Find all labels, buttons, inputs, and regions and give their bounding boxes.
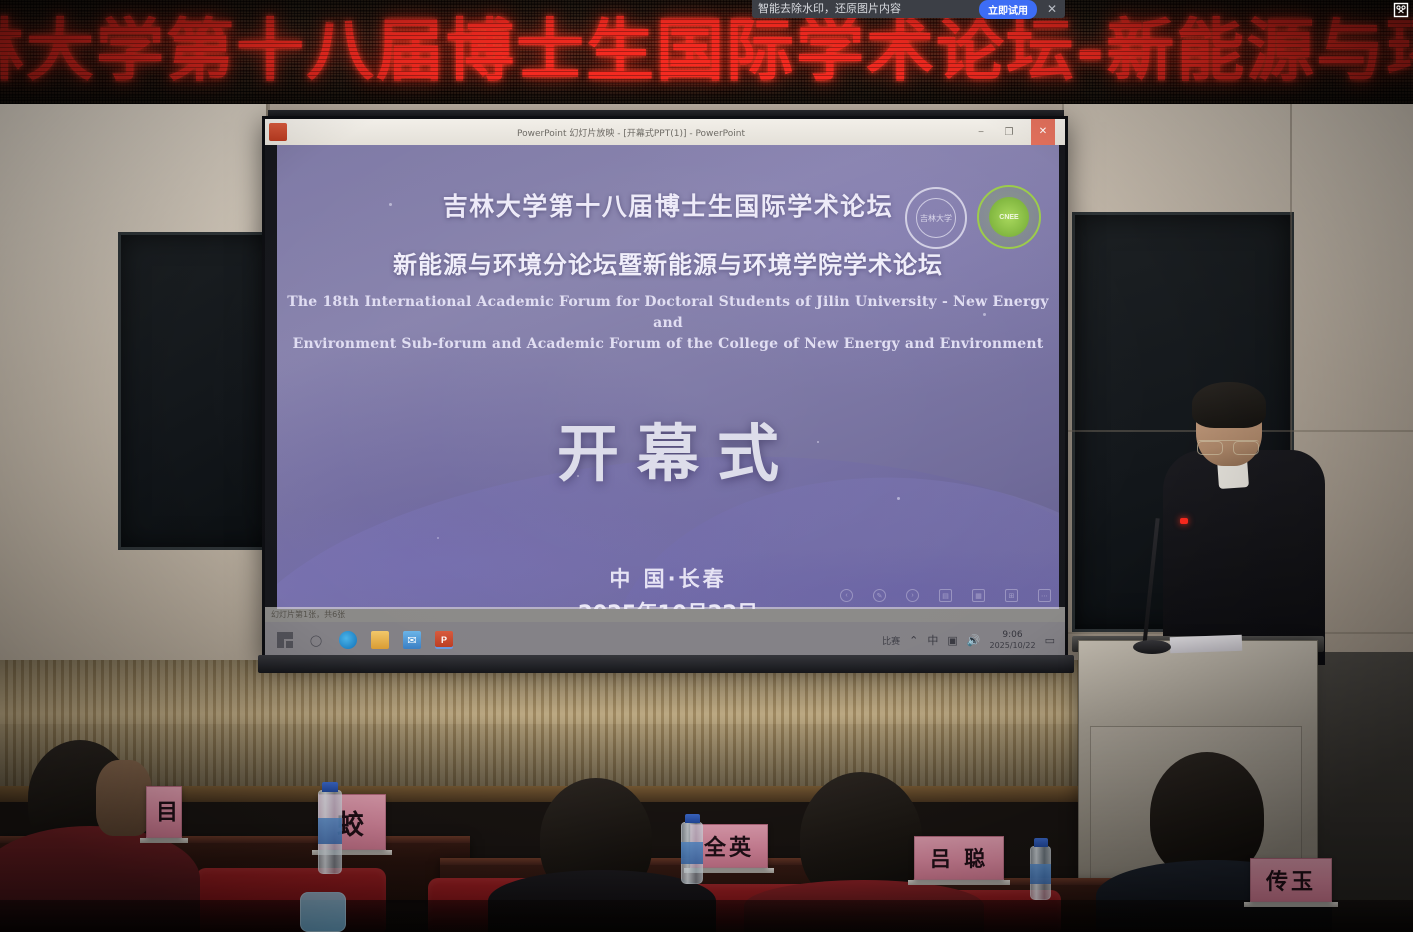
presenter-hair bbox=[1192, 382, 1266, 428]
bottle-cap bbox=[322, 782, 338, 792]
ad-message: 智能去除水印，还原图片内容 bbox=[758, 0, 971, 18]
foreground-shadow bbox=[0, 900, 1413, 932]
powerpoint-icon bbox=[269, 123, 287, 141]
taskbar-pinned-items[interactable]: ◯ ✉ P bbox=[265, 631, 453, 649]
bottle-cap bbox=[1034, 838, 1048, 847]
action-center-icon[interactable]: ▭ bbox=[1045, 634, 1055, 647]
volume-icon[interactable]: 🔊 bbox=[967, 634, 981, 647]
screen-bottom-mount bbox=[258, 655, 1074, 673]
zoom-control[interactable]: ⊞ bbox=[1005, 589, 1018, 602]
minimize-button[interactable]: − bbox=[975, 127, 987, 138]
prev-slide-control[interactable]: ‹ bbox=[840, 589, 853, 602]
nameplate: 传玉 bbox=[1250, 858, 1332, 902]
water-bottle bbox=[300, 892, 346, 932]
nameplate-stand bbox=[908, 880, 1010, 885]
nameplate-text: 吕 聪 bbox=[930, 843, 988, 873]
nameplate-text: 全英 bbox=[704, 830, 754, 862]
podium-side-wall bbox=[1318, 652, 1413, 932]
slide-english-line1: The 18th International Academic Forum fo… bbox=[277, 292, 1059, 334]
conference-hall-photo: 林大学第十八届博士生国际学术论坛-新能源与环境分论坛 PowerPoint 幻灯… bbox=[0, 0, 1413, 932]
bottle-cap bbox=[685, 814, 700, 823]
cnee-college-logo-icon: CNEE bbox=[977, 185, 1041, 249]
nameplate: 吕 聪 bbox=[914, 836, 1004, 880]
windows-taskbar[interactable]: ◯ ✉ P 比赛 ⌃ 中 ▣ 🔊 9:06 2025/10/22 ▭ bbox=[265, 622, 1065, 658]
next-slide-control[interactable]: › bbox=[906, 589, 919, 602]
attendee-raised-hand bbox=[96, 760, 152, 836]
slide-counter: 幻灯片第1张，共6张 bbox=[271, 609, 345, 620]
ppt-slide: 吉林大学 CNEE 吉林大学第十八届博士生国际学术论坛 新能源与环境分论坛暨新能… bbox=[277, 145, 1059, 609]
window-controls: − ❐ ✕ bbox=[975, 119, 1065, 145]
edge-browser-icon[interactable] bbox=[339, 631, 357, 649]
microphone-base bbox=[1133, 640, 1171, 654]
tray-app-label[interactable]: 比赛 bbox=[882, 634, 900, 647]
slide-heading-line2: 新能源与环境分论坛暨新能源与环境学院学术论坛 bbox=[277, 245, 1059, 280]
projection-screen: PowerPoint 幻灯片放映 - [开幕式PPT(1)] - PowerPo… bbox=[262, 116, 1068, 661]
bottle-label bbox=[1030, 864, 1051, 884]
powerpoint-taskbar-icon[interactable]: P bbox=[435, 631, 453, 649]
file-explorer-icon[interactable] bbox=[371, 631, 389, 649]
bottle-label bbox=[318, 818, 342, 844]
try-now-button[interactable]: 立即试用 bbox=[979, 0, 1037, 19]
taskbar-system-tray[interactable]: 比赛 ⌃ 中 ▣ 🔊 9:06 2025/10/22 ▭ bbox=[882, 630, 1065, 650]
jilin-university-seal-icon: 吉林大学 bbox=[905, 187, 967, 249]
mail-icon[interactable]: ✉ bbox=[403, 631, 421, 649]
taskbar-clock[interactable]: 9:06 2025/10/22 bbox=[989, 630, 1035, 650]
led-banner-text: 林大学第十八届博士生国际学术论坛-新能源与环境分论坛 bbox=[0, 10, 1413, 94]
nameplate-stand bbox=[140, 838, 188, 843]
nameplate-text: 目 bbox=[148, 800, 180, 825]
scissors-crop-icon[interactable] bbox=[1391, 1, 1411, 19]
search-icon[interactable]: ◯ bbox=[307, 631, 325, 649]
blackboard-left bbox=[118, 232, 276, 550]
all-slides-control[interactable]: ▦ bbox=[972, 589, 985, 602]
led-banner: 林大学第十八届博士生国际学术论坛-新能源与环境分论坛 bbox=[0, 0, 1413, 104]
microphone-led-indicator bbox=[1180, 518, 1188, 524]
presenter-glasses bbox=[1197, 440, 1259, 452]
powerpoint-window-title: PowerPoint 幻灯片放映 - [开幕式PPT(1)] - PowerPo… bbox=[287, 126, 975, 139]
input-method-icon[interactable]: 中 bbox=[927, 632, 938, 648]
slide-english-line2: Environment Sub-forum and Academic Forum… bbox=[277, 334, 1059, 355]
slide-main-title: 开幕式 bbox=[277, 403, 1059, 493]
clock-time: 9:06 bbox=[989, 630, 1035, 640]
slide-footer: 中 国·长春 2025年10月22日 会议地点：吉林大学前卫北区理化楼 bbox=[277, 563, 1059, 609]
powerpoint-titlebar: PowerPoint 幻灯片放映 - [开幕式PPT(1)] - PowerPo… bbox=[265, 119, 1065, 145]
presentation-controls[interactable]: ‹ ✎ › ▤ ▦ ⊞ ⋯ bbox=[840, 589, 1051, 602]
nameplate: 目 bbox=[146, 786, 182, 838]
powerpoint-status-bar: 幻灯片第1张，共6张 bbox=[265, 607, 1065, 622]
presenter-papers bbox=[1170, 635, 1243, 654]
nameplate-stand bbox=[1244, 902, 1338, 907]
show-hidden-icons[interactable]: ⌃ bbox=[909, 634, 918, 647]
clock-date: 2025/10/22 bbox=[989, 641, 1035, 650]
seal-inner: 吉林大学 bbox=[916, 198, 956, 238]
nameplate-text: 传玉 bbox=[1266, 864, 1316, 896]
wainscot-shading bbox=[0, 660, 1080, 795]
notes-control[interactable]: ▤ bbox=[939, 589, 952, 602]
windows-icon[interactable] bbox=[277, 632, 293, 648]
pen-control[interactable]: ✎ bbox=[873, 589, 886, 602]
cnee-inner: CNEE bbox=[989, 197, 1029, 237]
screenshot-tool-icon[interactable]: ▣ bbox=[947, 634, 957, 647]
restore-button[interactable]: ❐ bbox=[1003, 127, 1015, 138]
more-options-control[interactable]: ⋯ bbox=[1038, 589, 1051, 602]
close-icon[interactable]: ✕ bbox=[1045, 0, 1059, 18]
bottle-label bbox=[681, 842, 703, 864]
watermark-removal-ad-banner[interactable]: 智能去除水印，还原图片内容 立即试用 ✕ bbox=[752, 0, 1065, 18]
close-button[interactable]: ✕ bbox=[1031, 119, 1055, 145]
